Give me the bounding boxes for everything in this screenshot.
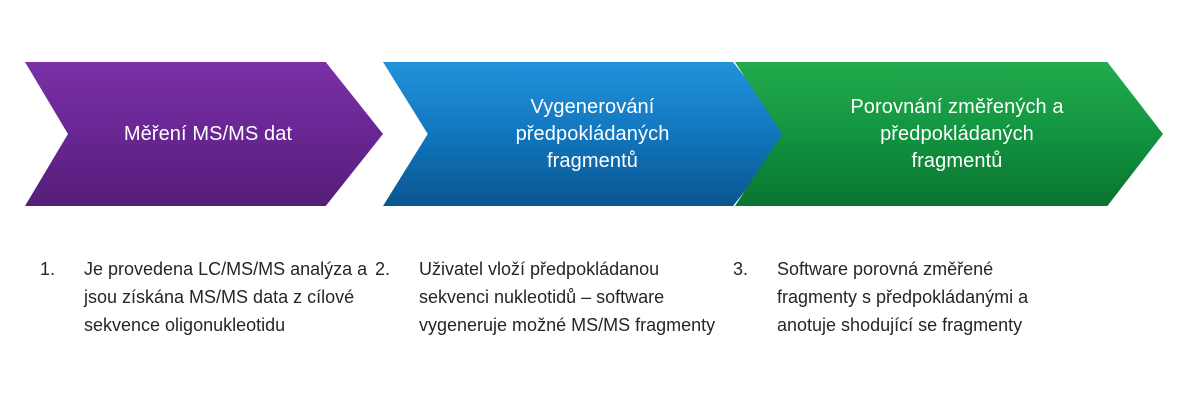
list-item-marker: 1. — [40, 255, 84, 283]
list-item-text: Software porovná změřené fragmenty s pře… — [777, 255, 1063, 339]
chevron-stage-2[interactable]: Vygenerování předpokládaných fragmentů — [383, 62, 790, 206]
chevron-stage-3[interactable]: Porovnání změřených a předpokládaných fr… — [735, 62, 1163, 206]
list-item-text: Je provedena LC/MS/MS analýza a jsou zís… — [84, 255, 370, 339]
list-item-text: Uživatel vloží předpokládanou sekvenci n… — [419, 255, 720, 339]
chevron-stage-3-label: Porovnání změřených a předpokládaných fr… — [850, 94, 1063, 175]
chevron-band: Měření MS/MS dat Vygenerování předpoklád… — [0, 62, 1195, 206]
list-item-marker: 2. — [375, 255, 419, 283]
list-item: 1. Je provedena LC/MS/MS analýza a jsou … — [40, 255, 370, 339]
list-item-marker: 3. — [733, 255, 777, 283]
chevron-stage-1-label: Měření MS/MS dat — [124, 121, 292, 148]
list-item: 2. Uživatel vloží předpokládanou sekvenc… — [375, 255, 720, 339]
steps-list: 1. Je provedena LC/MS/MS analýza a jsou … — [0, 255, 1195, 395]
chevron-stage-1[interactable]: Měření MS/MS dat — [25, 62, 383, 206]
process-diagram: Měření MS/MS dat Vygenerování předpoklád… — [0, 0, 1195, 419]
list-item: 3. Software porovná změřené fragmenty s … — [733, 255, 1063, 339]
chevron-stage-2-label: Vygenerování předpokládaných fragmentů — [516, 94, 670, 175]
